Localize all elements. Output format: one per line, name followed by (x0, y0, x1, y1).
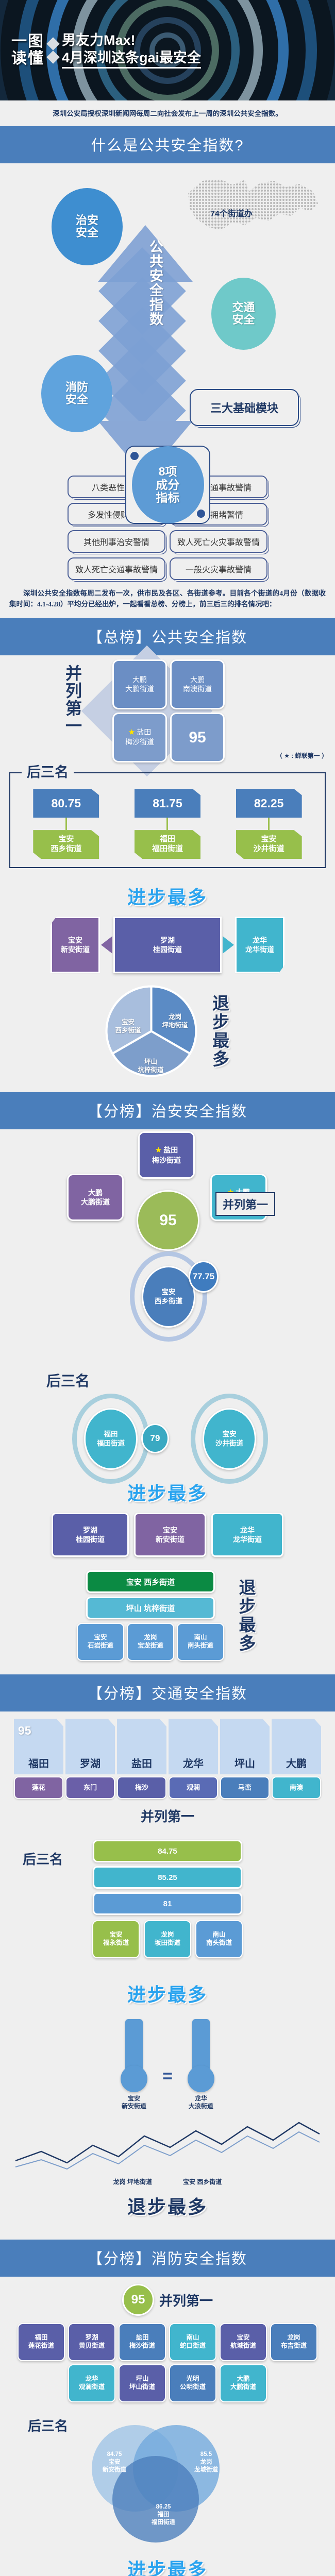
xiaofang-street-chip: 坪山 坪山街道 (119, 2364, 166, 2402)
district-name: 坪山 (144, 1058, 157, 1065)
score-value: 86.25 (156, 2504, 171, 2510)
jiaotong-column: 龙华 观澜 (169, 1719, 218, 1799)
street-name: 大鹏街道 (81, 1198, 110, 1206)
jiaotong-column: 盐田 梅沙 (117, 1719, 166, 1799)
street-name: 观澜街道 (79, 2383, 105, 2391)
score-value: 84.75 (158, 1847, 177, 1856)
street-name: 南澳街道 (183, 685, 212, 693)
zhian-bottom3-ring-bottom: 后三名 福田 福田街道 79 宝安 沙井街道 (0, 1369, 335, 1475)
zhian-bottom3-ring-top: 宝安 西乡街道 77.75 (0, 1250, 335, 1369)
connector-line (166, 818, 168, 830)
jiaotong-street-cell: 东门 (65, 1776, 115, 1799)
jiaotong-street-cell: 梅沙 (117, 1776, 166, 1799)
district-name: 福田 (158, 2512, 170, 2518)
district-name: 宝安 (122, 1019, 135, 1026)
jiaotong-most-improved-row: 宝安 新安街道 = 龙华 大浪街道 (0, 2014, 335, 2110)
score-tag: 82.25 (236, 789, 302, 818)
jiaotong-most-improved-title: 进步最多 (0, 1980, 335, 2007)
corner-dot-icon (130, 452, 139, 460)
district-name: 龙岗 (161, 1931, 174, 1938)
xiaofang-top-streets: 福田 莲花街道 罗湖 黄贝街道 盐田 梅沙街道 南山 蛇口街道 宝安 航城街道 … (0, 2316, 335, 2402)
jiaotong-decline-line-chart (10, 2115, 325, 2177)
district-name: 盐田 (131, 1755, 152, 1770)
jiaotong-district-head: 坪山 (220, 1719, 270, 1774)
star-legend-note: （ ★ : 蝉联第一 ） (276, 751, 328, 760)
zhian-bottom3-label: 后三名 (46, 1370, 90, 1391)
bottom3-entry: 82.25 宝安 沙井街道 (236, 789, 302, 859)
jiaotong-street-cell: 观澜 (169, 1776, 218, 1799)
district-name: 宝安 (58, 835, 74, 843)
jiaotong-bottom3-block: 后三名 84.75 85.25 81 宝安 福永街道 龙岗 坂田街道 (0, 1827, 335, 1965)
stamp-line-1: 一图 (11, 33, 44, 50)
jiaotong-district-head: 95 福田 (14, 1719, 63, 1774)
street-name: 梅沙街道 (129, 2342, 155, 2349)
connector-line (65, 818, 67, 830)
connector-line (268, 818, 270, 830)
star-icon: ★ (128, 728, 135, 737)
xiaofang-street-chip: 大鹏 大鹏街道 (220, 2364, 267, 2402)
declined-entry: 龙岗 坪地街道 (113, 2177, 152, 2186)
district-name: 坪山 (136, 2375, 148, 2382)
index-structure-diagram: 74个街道办 治安安全 公共安全指数 交通安全 消防安全 三大基础模块 8项成分… (0, 163, 335, 472)
pie-slice-label: 坪山 坑梓街道 (132, 1058, 170, 1074)
jiaotong-column: 大鹏 南澳 (272, 1719, 321, 1799)
thermometer-caption: 龙华 大浪街道 (189, 2095, 213, 2110)
declined-chip: 南山 南头街道 (177, 1623, 224, 1661)
total-most-improved-row: 宝安 新安街道 罗湖 桂园街道 龙华 龙华街道 (0, 917, 335, 973)
xiaofang-tied-first-label: 并列第一 (159, 2291, 213, 2310)
pie-slice-label: 龙岗 坪地街道 (157, 1013, 193, 1029)
street-core: 福田 福田街道 (84, 1408, 138, 1470)
street-name: 福永街道 (103, 1939, 129, 1946)
street-name: 坪地街道 (127, 2178, 152, 2185)
street-name: 西乡街道 (155, 1297, 182, 1305)
district-name: 龙岗 (200, 2459, 212, 2465)
district-name: 大鹏 (286, 1755, 307, 1770)
street-name: 坪地街道 (162, 1022, 188, 1029)
district-name: 大鹏 (237, 2375, 249, 2382)
improved-card: 宝安 新安街道 (51, 917, 100, 973)
district-name: 大鹏 (132, 675, 147, 684)
district-name: 南山 (186, 2334, 199, 2341)
street-name: 龙城街道 (194, 2467, 218, 2473)
street-name: 航城街道 (230, 2342, 256, 2349)
zhian-most-declined-title: 退步最多 (233, 1579, 258, 1653)
corner-dot-icon (197, 510, 205, 518)
venn-label: 84.75 宝安 新安街道 (94, 2451, 135, 2474)
district-name: 宝安 (162, 1288, 176, 1296)
total-tied-first-label: 并列第一 (61, 665, 85, 735)
xiaofang-street-chip: 光明 公明街道 (169, 2364, 216, 2402)
map-street-count-label: 74个街道办 (210, 207, 253, 219)
score-value: 85.25 (158, 1873, 177, 1882)
improved-card: 罗湖 桂园街道 (52, 1513, 129, 1557)
total-tied-cell: 大鹏 大鹏街道 (112, 659, 167, 709)
district-name: 宝安 (109, 1931, 122, 1938)
district-name: 福田 (28, 1755, 49, 1770)
street-name: 福田街道 (97, 1439, 125, 1447)
xiaofang-street-chip: 福田 莲花街道 (18, 2323, 65, 2361)
street-name: 坑梓街道 (138, 1066, 163, 1074)
jiaotong-most-declined-legend: 龙岗 坪地街道 宝安 西乡街道 (0, 2177, 335, 2186)
declined-bar: 坪山 坑梓街道 (86, 1597, 215, 1619)
most-declined-pie-chart: 龙岗 坪地街道 宝安 西乡街道 坪山 坑梓街道 (104, 984, 199, 1079)
street-name: 坑梓街道 (144, 1604, 175, 1613)
jiaotong-bottom3-bar: 85.25 (93, 1866, 242, 1889)
street-name: 龙华街道 (245, 945, 274, 954)
thermometer-tube-icon (125, 2019, 143, 2069)
bubble-traffic-safety: 交通安全 (211, 278, 276, 350)
score-value: 85.5 (200, 2451, 212, 2458)
zhian-top-block: 大鹏 大鹏街道 ★盐田 梅沙街道 ★大鹏 南澳街道 95 并列第一 (0, 1129, 335, 1250)
district-name: 龙华 (183, 1755, 204, 1770)
total-tied-score: 95 (170, 713, 225, 762)
arrow-right-icon (223, 936, 234, 954)
jiaotong-bottom3-street: 宝安 福永街道 (92, 1920, 140, 1958)
zhian-tied-first-label: 并列第一 (215, 1192, 275, 1216)
bottom3-entry: 81.75 福田 福田街道 (135, 789, 200, 859)
street-name: 坪山街道 (129, 2383, 155, 2391)
bubble-fire-safety: 消防安全 (41, 355, 112, 432)
district-name: 龙岗 (113, 2178, 126, 2185)
xiaofang-bottom3-venn: 84.75 宝安 新安街道 85.5 龙岗 龙城街道 86.25 福田 福田街道 (82, 2412, 253, 2540)
district-name: 龙岗 (287, 2334, 300, 2341)
xiaofang-street-chip: 龙华 观澜街道 (68, 2364, 115, 2402)
xiaofang-street-chip: 盐田 梅沙街道 (119, 2323, 166, 2361)
street-core: 宝安 西乡街道 (142, 1266, 195, 1328)
district-name: 盐田 (137, 728, 151, 736)
street-name: 新安街道 (122, 2103, 146, 2110)
district-name: 宝安 (237, 2334, 249, 2341)
jiaotong-bottom3-label: 后三名 (23, 1849, 63, 1868)
district-name: 大鹏 (190, 675, 205, 684)
total-most-declined-row: 龙岗 坪地街道 宝安 西乡街道 坪山 坑梓街道 退步最多 (0, 984, 335, 1079)
district-name: 龙华 (195, 2095, 207, 2102)
street-name: 公明街道 (180, 2383, 206, 2391)
street-name: 梅沙街道 (152, 1156, 181, 1164)
intro-text: 深圳公安局授权深圳新闻网每周二向社会发布上一周的深圳公共安全指数。 (0, 100, 335, 126)
street-name: 桂园街道 (153, 945, 182, 954)
score-tag: 80.75 (33, 789, 99, 818)
street-name: 蛇口街道 (180, 2342, 206, 2349)
district-name: 宝安 (126, 1578, 142, 1587)
jiaotong-street-cell: 南澳 (272, 1776, 321, 1799)
ring-entry: 宝安 西乡街道 77.75 (130, 1251, 207, 1342)
district-name: 罗湖 (83, 1526, 97, 1534)
xiaofang-bottom3-block: 后三名 84.75 宝安 新安街道 85.5 龙岗 龙城街道 86.25 福田 … (0, 2412, 335, 2540)
section-band-traffic-index: 【分榜】交通安全指数 (0, 1674, 335, 1711)
jiaotong-tied-first-label: 并列第一 (0, 1806, 335, 1825)
xiaofang-street-chip: 宝安 航城街道 (220, 2323, 267, 2361)
district-name: 福田 (160, 835, 175, 843)
venn-label: 85.5 龙岗 龙城街道 (186, 2451, 227, 2474)
center-index-label: 公共安全指数 (145, 240, 165, 326)
xiaofang-score: 95 (122, 2284, 154, 2316)
street-tag: 宝安 沙井街道 (236, 830, 302, 859)
district-name: 盐田 (136, 2334, 148, 2341)
street-name: 南头街道 (206, 1939, 232, 1946)
district-name: 宝安 (94, 1634, 107, 1641)
jiaotong-bottom3-bar: 81 (93, 1892, 242, 1915)
pie-slice-label: 宝安 西乡街道 (110, 1019, 147, 1035)
street-name: 新安街道 (156, 1535, 185, 1544)
district-name: 南山 (212, 1931, 225, 1938)
street-name: 梅沙街道 (125, 738, 154, 746)
jiaotong-column: 罗湖 东门 (65, 1719, 115, 1799)
declined-bar: 宝安 西乡街道 (86, 1570, 215, 1593)
street-name: 沙井街道 (254, 844, 284, 853)
street-core: 宝安 沙井街道 (203, 1408, 256, 1470)
thermometer-tube-icon (192, 2019, 210, 2069)
section-band-what-is-index: 什么是公共安全指数? (0, 126, 335, 163)
district-name: 龙华 (85, 2375, 98, 2382)
thermometer-entry: 龙华 大浪街道 (186, 2019, 216, 2110)
district-name: 坪山 (126, 1604, 142, 1613)
street-tag: 福田 福田街道 (135, 830, 200, 859)
zhian-top-score: 95 (137, 1190, 199, 1251)
series-stamp: 一图 读懂 (11, 33, 44, 67)
street-name: 西乡街道 (144, 1578, 175, 1587)
jiaotong-district-head: 罗湖 (65, 1719, 115, 1774)
score-tag: 81.75 (135, 789, 200, 818)
zhian-most-declined-row: 宝安 西乡街道 坪山 坑梓街道 宝安 石岩街道 龙岗 宝龙街道 南 (0, 1570, 335, 1661)
jiaotong-district-head: 大鹏 (272, 1719, 321, 1774)
district-name: 南山 (194, 1634, 207, 1641)
infographic-page: 一图 读懂 男友力Max! 4月深圳这条gai最安全 深圳公安局授权深圳新闻网每… (0, 0, 335, 2576)
three-modules-chip: 三大基础模块 (190, 389, 299, 426)
improved-card: 宝安 新安街道 (134, 1513, 206, 1557)
xiaofang-most-improved-title: 进步最多 (0, 2555, 335, 2576)
district-name: 宝安 (261, 835, 277, 843)
ring-entry: 福田 福田街道 79 (72, 1394, 149, 1484)
jiaotong-district-head: 盐田 (117, 1719, 166, 1774)
xiaofang-top-header: 95 并列第一 (0, 2277, 335, 2316)
hero-banner: 一图 读懂 男友力Max! 4月深圳这条gai最安全 (0, 0, 335, 100)
district-name: 龙岗 (144, 1634, 157, 1641)
district-name: 龙岗 (169, 1013, 181, 1021)
hero-title-line1: 男友力Max! (62, 32, 201, 49)
score-badge: 77.75 (189, 1261, 219, 1293)
district-name: 罗湖 (80, 1755, 100, 1770)
district-name: 宝安 (183, 2178, 195, 2185)
declined-entry: 宝安 西乡街道 (183, 2177, 222, 2186)
shenzhen-map-icon (183, 174, 322, 251)
zhian-most-improved-row: 罗湖 桂园街道 宝安 新安街道 龙华 龙华街道 (0, 1513, 335, 1557)
score-value: 81 (163, 1900, 172, 1908)
street-name: 大鹏街道 (230, 2383, 256, 2391)
total-tied-cell: 大鹏 南澳街道 (170, 659, 225, 709)
thermometer-bulb-icon (188, 2065, 214, 2092)
total-most-improved-title: 进步最多 (0, 883, 335, 909)
section-band-total-index: 【总榜】公共安全指数 (0, 618, 335, 655)
eight-indicators-frame: 8项成分指标 (125, 446, 210, 524)
jiaotong-most-declined-title: 退步最多 (0, 2192, 335, 2219)
hero-title-line2: 4月深圳这条gai最安全 (62, 49, 201, 69)
district-name: 盐田 (163, 1146, 178, 1154)
jiaotong-bottom3-street: 南山 南头街道 (195, 1920, 243, 1958)
thermometer-entry: 宝安 新安街道 (119, 2019, 149, 2110)
declined-chip: 宝安 石岩街道 (77, 1623, 124, 1661)
jiaotong-street-cell: 莲花 (14, 1776, 63, 1799)
zhian-most-improved-title: 进步最多 (0, 1479, 335, 1505)
district-name: 福田 (35, 2334, 47, 2341)
district-name: 龙华 (240, 1526, 255, 1534)
equals-sign: = (162, 2066, 173, 2110)
indicator-item: 致人死亡交通事故警情 (68, 557, 165, 580)
street-name: 大鹏街道 (125, 685, 154, 693)
jiaotong-score: 95 (18, 1724, 31, 1738)
street-name: 石岩街道 (88, 1642, 113, 1649)
section-band-fire-index: 【分榜】消防安全指数 (0, 2240, 335, 2277)
street-name: 龙华街道 (233, 1535, 262, 1544)
district-name: 宝安 (109, 2459, 121, 2465)
street-name: 黄贝街道 (79, 2342, 105, 2349)
total-bottom3-label: 后三名 (22, 761, 74, 781)
jiaotong-district-head: 龙华 (169, 1719, 218, 1774)
score-badge: 79 (141, 1423, 169, 1453)
total-tied-first-block: 并列第一 大鹏 大鹏街道 大鹏 南澳街道 ★盐田 梅沙街道 95 （ ★ : 蝉… (0, 655, 335, 761)
jiaotong-street-cell: 马峦 (220, 1776, 270, 1799)
improved-card: 龙华 龙华街道 (211, 1513, 283, 1557)
jiaotong-column: 95 福田 莲花 (14, 1719, 63, 1799)
street-name: 沙井街道 (215, 1439, 243, 1447)
diamond-separator-icon (48, 38, 58, 63)
street-name: 福田街道 (152, 2519, 175, 2526)
explanatory-paragraph: 深圳公共安全指数每周二发布一次，供市民及各区、各街道参考。目前各个街道的4月份（… (0, 580, 335, 618)
improved-card-main: 罗湖 桂园街道 (113, 917, 222, 973)
district-name: 宝安 (163, 1526, 177, 1534)
total-tied-grid: 大鹏 大鹏街道 大鹏 南澳街道 ★盐田 梅沙街道 95 (112, 659, 225, 762)
total-most-declined-title: 退步最多 (207, 994, 232, 1069)
jiaotong-bottom3-bar: 84.75 (93, 1840, 242, 1862)
improved-card: 龙华 龙华街道 (235, 917, 284, 973)
hero-title: 男友力Max! 4月深圳这条gai最安全 (62, 32, 201, 69)
score-value: 84.75 (107, 2451, 122, 2458)
xiaofang-street-chip: 龙岗 布吉街道 (270, 2323, 317, 2361)
thermometer-bulb-icon (121, 2065, 147, 2092)
district-name: 光明 (186, 2375, 199, 2382)
venn-label: 86.25 福田 福田街道 (140, 2503, 187, 2527)
district-name: 罗湖 (160, 936, 175, 944)
indicator-item: 其他刑事治安警情 (68, 530, 165, 553)
street-name: 南头街道 (188, 1642, 213, 1649)
jiaotong-bottom3-street: 龙岗 坂田街道 (144, 1920, 191, 1958)
street-name: 西乡街道 (197, 2178, 222, 2185)
street-name: 宝龙街道 (138, 1642, 163, 1649)
district-name: 宝安 (128, 2095, 140, 2102)
street-name: 布吉街道 (281, 2342, 307, 2349)
bottom3-entry: 80.75 宝安 西乡街道 (33, 789, 99, 859)
ring-entry: 宝安 沙井街道 (191, 1394, 268, 1484)
star-icon: ★ (155, 1146, 162, 1155)
eight-indicators-circle: 8项成分指标 (132, 446, 204, 523)
street-name: 西乡街道 (115, 1027, 141, 1034)
street-name: 新安街道 (61, 945, 90, 954)
district-name: 罗湖 (85, 2334, 98, 2341)
zhian-top-card: 大鹏 大鹏街道 (67, 1174, 124, 1221)
street-name: 新安街道 (103, 2467, 126, 2473)
xiaofang-street-chip: 罗湖 黄贝街道 (68, 2323, 115, 2361)
zhian-top-card: ★盐田 梅沙街道 (138, 1131, 195, 1179)
total-bottom3-frame: 后三名 80.75 宝安 西乡街道 81.75 福田 福田街道 (9, 772, 326, 868)
street-name: 坂田街道 (155, 1939, 180, 1946)
indicator-item: 一般火灾事故警情 (170, 557, 267, 580)
indicator-item: 致人死亡火灾事故警情 (170, 530, 267, 553)
district-name: 宝安 (68, 936, 82, 944)
thermometer-caption: 宝安 新安街道 (122, 2095, 146, 2110)
section-band-public-order-index: 【分榜】治安安全指数 (0, 1092, 335, 1129)
jiaotong-column: 坪山 马峦 (220, 1719, 270, 1799)
street-name: 西乡街道 (51, 844, 81, 853)
district-name: 大鹏 (88, 1189, 103, 1197)
center-index-label-wrap: 公共安全指数 (145, 240, 165, 461)
street-name: 桂园街道 (76, 1535, 105, 1544)
street-tag: 宝安 西乡街道 (33, 830, 99, 859)
district-name: 福田 (104, 1430, 118, 1438)
district-name: 宝安 (223, 1430, 237, 1438)
street-name: 大浪街道 (189, 2103, 213, 2110)
arrow-left-icon (101, 936, 112, 954)
district-name: 坪山 (234, 1755, 255, 1770)
xiaofang-street-chip: 南山 蛇口街道 (169, 2323, 216, 2361)
declined-chip: 龙岗 宝龙街道 (127, 1623, 174, 1661)
total-tied-cell: ★盐田 梅沙街道 (112, 713, 167, 762)
street-name: 莲花街道 (28, 2342, 54, 2349)
xiaofang-bottom3-label: 后三名 (28, 2416, 68, 2435)
district-name: 龙华 (253, 936, 267, 944)
stamp-line-2: 读懂 (11, 50, 44, 67)
street-name: 福田街道 (152, 844, 183, 853)
jiaotong-top-table: 95 福田 莲花 罗湖 东门 盐田 梅沙 龙华 观澜 坪山 (0, 1711, 335, 1799)
